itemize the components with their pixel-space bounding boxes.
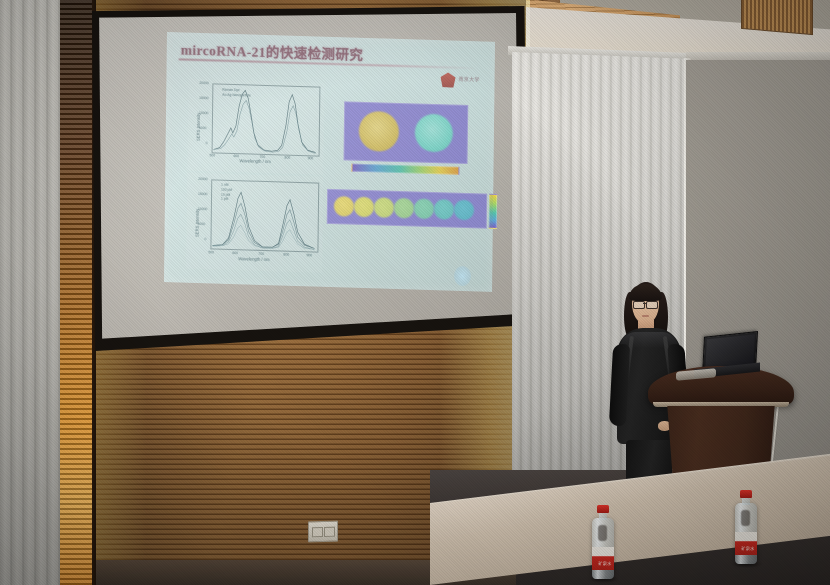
map-series-spot-1 — [334, 196, 354, 217]
chart-top-left-ytick-4: 0 — [206, 141, 208, 145]
chart-top-left-xlabel: Wavelength / nm — [239, 158, 270, 164]
chart-bottom-left-xlabel: Wavelength / nm — [238, 256, 269, 262]
bottle-liquid-shade-right — [741, 510, 750, 526]
presenter-glasses-bridge — [643, 303, 647, 304]
chart-top-left: Raman Dye Au-Ag Nanoparticle SERS Intens… — [187, 79, 324, 175]
chart-bottom-left: 1 nM 100 pM 10 pM 1 pM SERS Intensity Wa… — [186, 173, 323, 273]
chart-bottom-left-xtick-4: 900 — [306, 253, 312, 257]
chart-top-left-xtick-0: 500 — [210, 153, 216, 157]
left-blinds-shading — [0, 0, 66, 585]
presenter-mouth — [642, 315, 649, 317]
chart-top-left-ytick-3: 5000 — [199, 126, 207, 130]
chart-bottom-left-xtick-1: 600 — [232, 251, 238, 255]
chart-bottom-left-xtick-0: 500 — [208, 250, 214, 254]
bottle-label-text-right: 矿泉水 — [738, 546, 758, 552]
chart-top-left-xtick-4: 900 — [308, 156, 314, 160]
bottle-label-text-left: 矿泉水 — [595, 561, 615, 567]
chart-bottom-left-xtick-2: 700 — [258, 252, 264, 256]
map-spot-negative — [415, 113, 453, 152]
presenter-hair-top — [629, 284, 662, 301]
map-series-spot-6 — [434, 199, 454, 220]
corner-accent-light-strip — [60, 0, 96, 585]
colorbar-vertical — [489, 194, 497, 229]
presenter-glasses-right-lens — [646, 301, 658, 309]
bottle-neck-left — [599, 512, 607, 520]
map-two-spots — [344, 101, 469, 164]
chart-top-left-ytick-2: 10000 — [199, 111, 208, 115]
university-logo-text: 南京大学 — [458, 76, 479, 84]
university-logo-mark-icon — [440, 72, 455, 87]
chart-top-left-xtick-1: 600 — [234, 154, 240, 158]
bottle-label-left: 矿泉水 — [592, 547, 614, 570]
bottle-neck-right — [742, 497, 750, 505]
map-spot-positive — [359, 111, 399, 152]
map-series-spot-5 — [414, 198, 434, 219]
chart-bottom-left-ytick-0: 20000 — [198, 177, 207, 181]
chart-bottom-left-ytick-2: 10000 — [198, 207, 207, 211]
chart-top-left-xtick-2: 700 — [260, 155, 266, 159]
water-bottle-right[interactable]: 矿泉水 — [733, 490, 759, 564]
chart-top-left-ytick-0: 20000 — [199, 81, 208, 85]
map-series-spot-4 — [394, 198, 414, 219]
projected-slide: mircoRNA-21的快速检测研究 南京大学 Raman Dye Au-Ag … — [164, 32, 495, 292]
wall-power-outlet[interactable] — [308, 521, 338, 543]
bottle-cap-left[interactable] — [597, 505, 609, 513]
university-logo: 南京大学 — [440, 72, 486, 90]
presentation-room-scene: mircoRNA-21的快速检测研究 南京大学 Raman Dye Au-Ag … — [0, 0, 830, 585]
chart-top-left-ytick-1: 15000 — [199, 96, 208, 100]
map-series-spot-3 — [374, 197, 394, 218]
air-vent-grille-icon — [741, 0, 813, 35]
chart-bottom-left-xtick-3: 800 — [283, 253, 289, 257]
chart-bottom-left-ytick-4: 0 — [205, 237, 207, 241]
map-series-spot-7 — [454, 200, 474, 221]
bottle-cap-right[interactable] — [740, 490, 752, 498]
map-spot-series — [327, 189, 487, 229]
chart-bottom-left-ytick-3: 5000 — [198, 222, 206, 226]
chart-top-left-legend: Raman Dye Au-Ag Nanoparticle — [222, 88, 251, 98]
bottle-label-right: 矿泉水 — [735, 532, 757, 555]
chart-bottom-left-legend: 1 nM 100 pM 10 pM 1 pM — [221, 183, 232, 202]
screen-lens-flare — [454, 266, 471, 286]
bottle-liquid-shade-left — [598, 525, 607, 541]
map-series-spot-2 — [354, 197, 374, 218]
chart-bottom-left-ytick-1: 15000 — [198, 192, 207, 196]
chart-top-left-xtick-3: 800 — [285, 156, 291, 160]
water-bottle-left[interactable]: 矿泉水 — [590, 505, 616, 579]
